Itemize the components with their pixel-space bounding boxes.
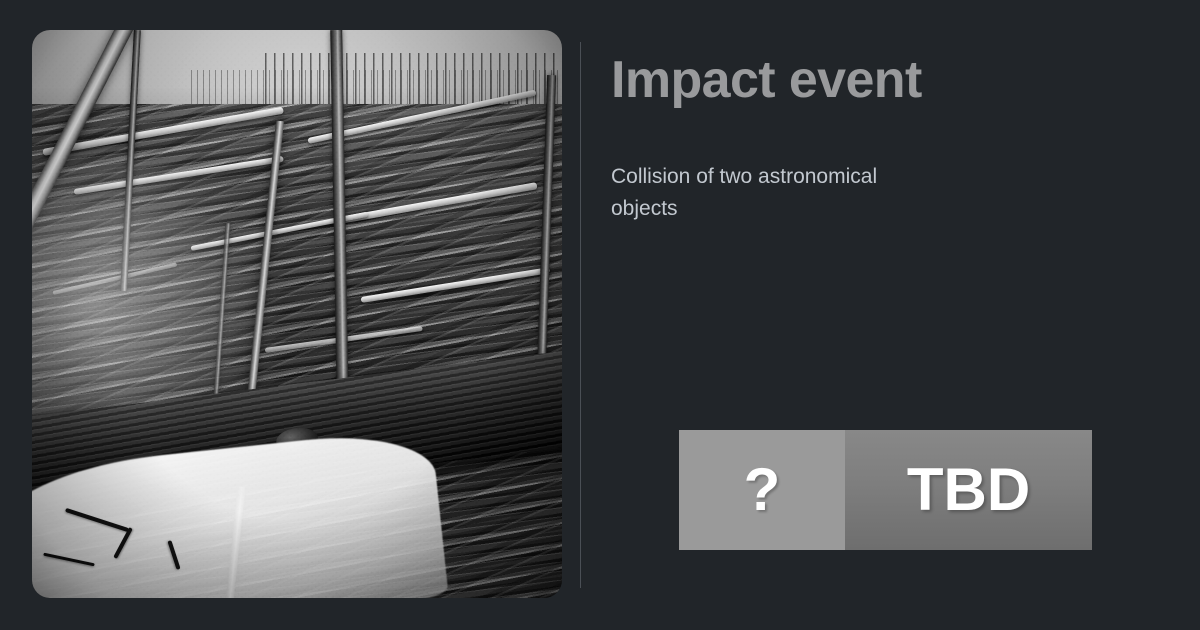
page-subtitle: Collision of two astronomical objects (611, 161, 941, 225)
tbd-badge-label-panel: TBD (845, 430, 1092, 550)
preview-card: Impact event Collision of two astronomic… (0, 0, 1200, 630)
tbd-badge-label: TBD (907, 460, 1030, 520)
media-pane (0, 0, 580, 630)
question-mark-icon: ? (744, 460, 781, 520)
tunguska-flattened-forest-photo (32, 30, 562, 598)
tbd-badge-icon-panel: ? (679, 430, 845, 550)
page-title: Impact event (611, 52, 922, 108)
tbd-badge[interactable]: ? TBD (679, 430, 1092, 550)
text-pane: Impact event Collision of two astronomic… (580, 0, 1200, 630)
article-image-frame[interactable] (32, 30, 562, 598)
